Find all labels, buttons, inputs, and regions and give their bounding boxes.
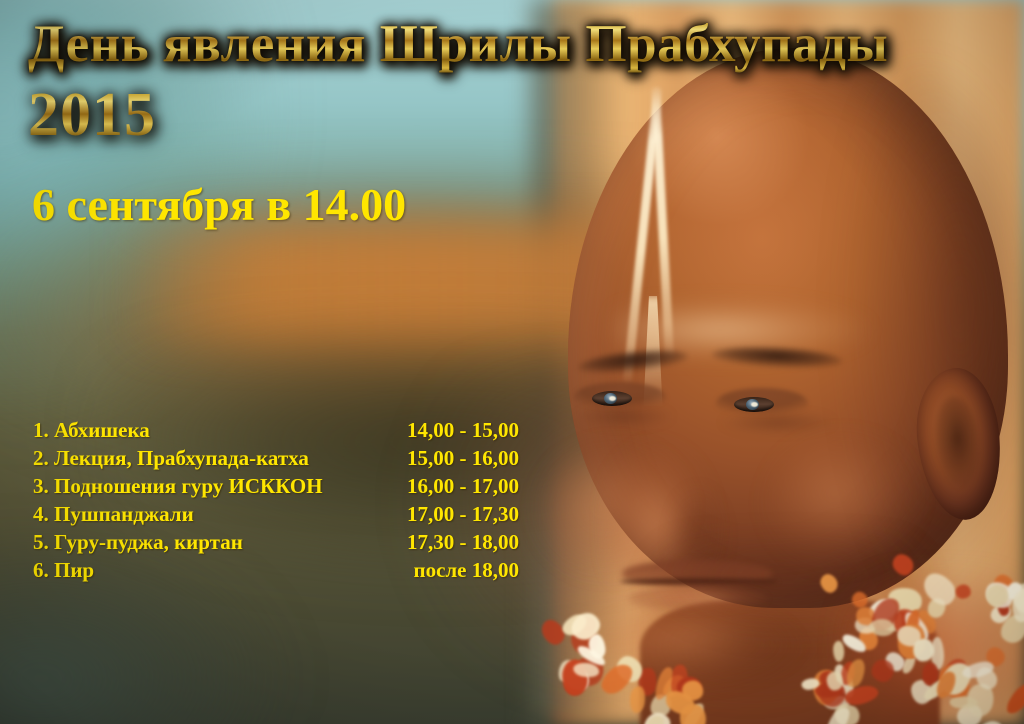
- ear-inner: [931, 394, 984, 490]
- eye-glint-right: [751, 402, 758, 407]
- schedule-label: 3. Подношения гуру ИСККОН: [33, 474, 323, 499]
- year-label: 2015: [28, 80, 156, 151]
- schedule-time: 17,00 - 17,30: [407, 502, 519, 527]
- schedule-time: после 18,00: [413, 558, 519, 583]
- schedule-label: 1. Абхишека: [33, 418, 150, 443]
- schedule-time: 15,00 - 16,00: [407, 446, 519, 471]
- eye-glint-left: [609, 396, 616, 401]
- schedule-label: 5. Гуру-пуджа, киртан: [33, 530, 243, 555]
- flower-garland: [520, 560, 1024, 724]
- garland-petal: [912, 638, 934, 661]
- eyeball-left: [592, 391, 632, 406]
- schedule-time: 17,30 - 18,00: [407, 530, 519, 555]
- schedule-row: 5. Гуру-пуджа, киртан 17,30 - 18,00: [33, 530, 519, 558]
- portrait-figure: [520, 0, 1024, 724]
- page-title: День явления Шрилы Прабхупады: [28, 14, 888, 74]
- date-time-label: 6 сентября в 14.00: [32, 178, 406, 231]
- eyeball-right: [734, 397, 774, 412]
- schedule-label: 2. Лекция, Прабхупада-катха: [33, 446, 309, 471]
- eye-right: [716, 388, 808, 418]
- schedule-time: 16,00 - 17,00: [407, 474, 519, 499]
- schedule-row: 3. Подношения гуру ИСККОН 16,00 - 17,00: [33, 474, 519, 502]
- garland-petal: [817, 571, 840, 595]
- garland-petal: [629, 686, 646, 714]
- garland-petal: [950, 697, 978, 709]
- schedule-row: 1. Абхишека 14,00 - 15,00: [33, 418, 519, 446]
- iris-left: [604, 393, 617, 404]
- schedule-row: 2. Лекция, Прабхупада-катха 15,00 - 16,0…: [33, 446, 519, 474]
- schedule-label: 4. Пушпанджали: [33, 502, 194, 527]
- eye-left: [574, 382, 666, 412]
- poster-canvas: День явления Шрилы Прабхупады 2015 6 сен…: [0, 0, 1024, 724]
- schedule-label: 6. Пир: [33, 558, 94, 583]
- iris-right: [746, 399, 759, 410]
- schedule-row: 4. Пушпанджали 17,00 - 17,30: [33, 502, 519, 530]
- garland-petal: [833, 641, 845, 663]
- schedule-row: 6. Пир после 18,00: [33, 558, 519, 586]
- schedule-time: 14,00 - 15,00: [407, 418, 519, 443]
- schedule-list: 1. Абхишека 14,00 - 15,00 2. Лекция, Пра…: [33, 418, 519, 586]
